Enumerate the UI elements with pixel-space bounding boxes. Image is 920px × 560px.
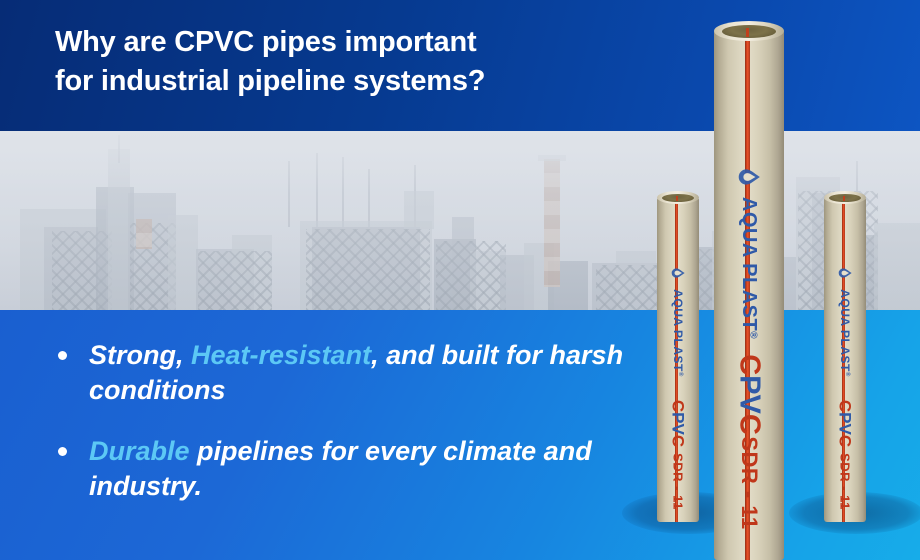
bullet-1-segment-1: Strong, xyxy=(89,340,191,370)
right-pipe-cpvc: CPVC xyxy=(837,400,854,447)
marketing-banner: Why are CPVC pipes important for industr… xyxy=(0,0,920,560)
headline-line-1: Why are CPVC pipes important xyxy=(55,23,695,62)
center-pipe-labels: AQUA PLAST® CPVC SDR - 11 xyxy=(714,30,784,560)
list-item: Strong, Heat-resistant, and built for ha… xyxy=(50,338,630,408)
center-pipe-sdr: SDR - 11 xyxy=(738,436,760,529)
bullet-1-highlight: Heat-resistant xyxy=(191,340,371,370)
aqua-plast-droplet-logo-icon xyxy=(736,164,762,190)
bullet-dot-icon xyxy=(58,351,67,360)
center-pipe[interactable]: AQUA PLAST® CPVC SDR - 11 xyxy=(714,30,784,560)
page-title: Why are CPVC pipes important for industr… xyxy=(55,23,695,100)
bullet-text-2: Durable pipelines for every climate and … xyxy=(89,434,630,504)
left-pipe-labels: AQUA PLAST® CPVC SDR - 11 xyxy=(657,197,699,522)
aqua-plast-droplet-logo-icon xyxy=(670,265,686,281)
left-pipe-cpvc: CPVC xyxy=(670,400,687,447)
left-pipe-sdr: SDR - 11 xyxy=(672,453,685,510)
right-pipe-brand: AQUA PLAST® xyxy=(839,289,851,376)
bullet-dot-icon xyxy=(58,447,67,456)
aqua-plast-droplet-logo-icon xyxy=(837,265,853,281)
right-pipe-labels: AQUA PLAST® CPVC SDR - 11 xyxy=(824,197,866,522)
center-pipe-brand: AQUA PLAST® xyxy=(739,197,759,339)
bullet-text-1: Strong, Heat-resistant, and built for ha… xyxy=(89,338,630,408)
bullet-2-highlight: Durable xyxy=(89,436,190,466)
left-pipe-brand: AQUA PLAST® xyxy=(672,289,684,376)
list-item: Durable pipelines for every climate and … xyxy=(50,434,630,504)
right-pipe-sdr: SDR - 11 xyxy=(839,453,852,510)
right-pipe[interactable]: AQUA PLAST® CPVC SDR - 11 xyxy=(824,197,866,522)
left-pipe[interactable]: AQUA PLAST® CPVC SDR - 11 xyxy=(657,197,699,522)
benefits-list: Strong, Heat-resistant, and built for ha… xyxy=(50,338,630,530)
headline-line-2: for industrial pipeline systems? xyxy=(55,62,695,101)
center-pipe-cpvc: CPVC xyxy=(735,354,764,435)
